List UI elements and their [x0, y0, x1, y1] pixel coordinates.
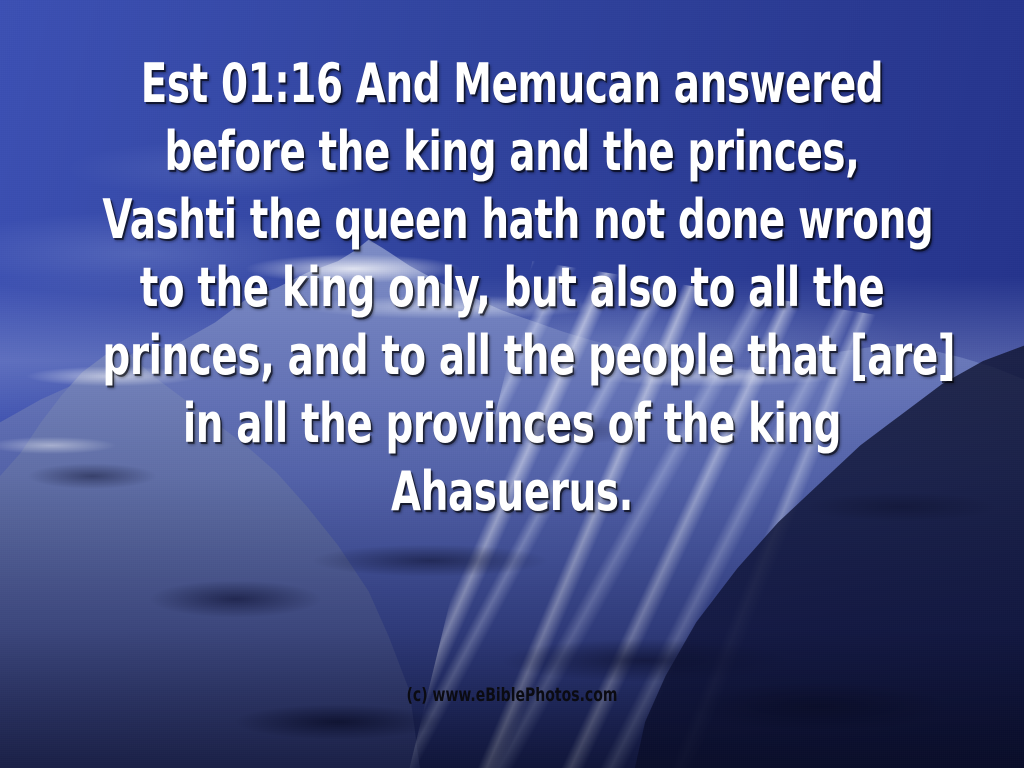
verse-line: Ahasuerus. [102, 458, 921, 526]
verse-line: in all the provinces of the king [102, 390, 921, 458]
verse-text-block: Est 01:16 And Memucan answered before th… [102, 50, 921, 526]
verse-line: Est 01:16 And Memucan answered [102, 50, 921, 118]
verse-line: Vashti the queen hath not done wrong [102, 186, 921, 254]
copyright-watermark: (c) www.eBiblePhotos.com [92, 686, 932, 705]
verse-line: princes, and to all the people that [are… [102, 322, 921, 390]
verse-image-canvas: Est 01:16 And Memucan answered before th… [0, 0, 1024, 768]
verse-line: to the king only, but also to all the [102, 254, 921, 322]
verse-line: before the king and the princes, [102, 118, 921, 186]
